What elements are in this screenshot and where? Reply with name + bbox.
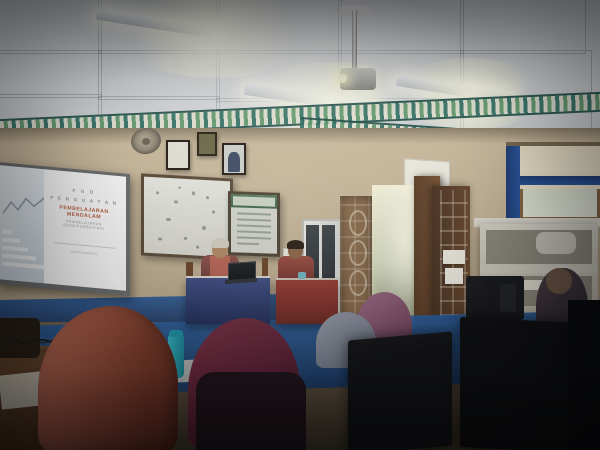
participant-maroon-body [196,372,306,450]
curtain-rod [506,142,600,146]
water-bottle-cap [169,330,183,337]
screen-glare [0,165,126,290]
curtain-side-panel [506,145,520,225]
speaker-box [500,284,516,312]
photo-scene: F G D P E N G U A T A N PEMBELAJARAN MEN… [0,0,600,450]
presenter-hair [211,238,229,248]
presenter-second-hair [287,240,304,249]
projector-pole [352,10,357,72]
door-notice-top [443,250,465,264]
table-blue-cloth [186,278,270,324]
portrait-right-figure [228,152,240,172]
participant-right-edge-head [546,268,572,294]
monitor-right-edge [568,300,600,450]
information-board-header-inner [233,196,275,206]
monitor-foreground [348,331,452,450]
information-board [231,194,277,254]
door-notice-bottom [445,268,463,284]
portrait-center [197,132,217,156]
projector-lens [338,74,347,83]
portrait-left [166,140,190,170]
monitor-foreground-right [460,317,578,450]
tea-cup [298,272,306,279]
shelf-item-bag [536,232,576,254]
wall-fan-hub [142,138,150,145]
curtain-trim [512,185,600,189]
curtain-blue-band [512,176,600,185]
